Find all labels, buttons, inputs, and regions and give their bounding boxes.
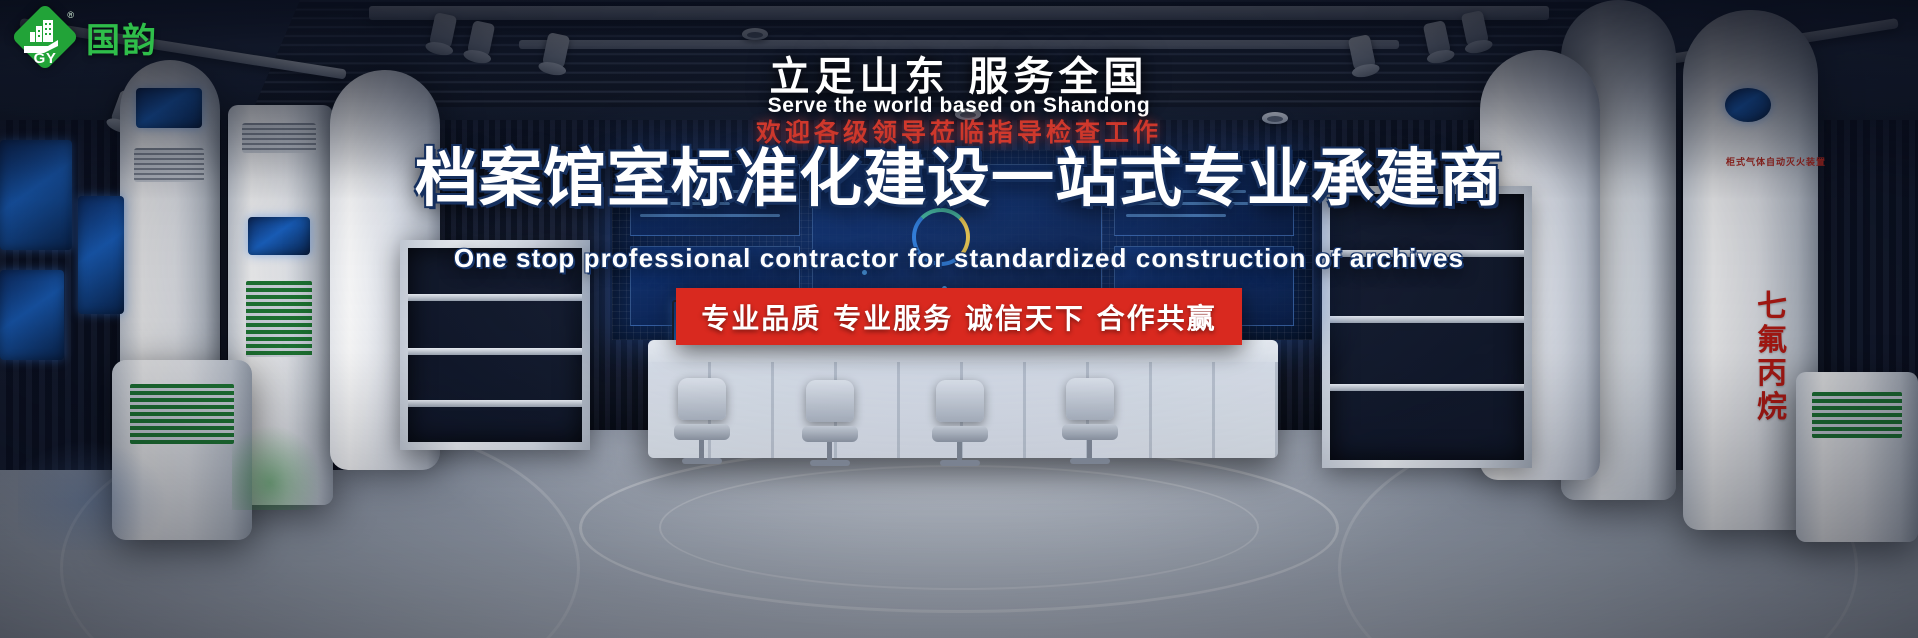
- hero-headline-en: One stop professional contractor for sta…: [0, 243, 1918, 274]
- hero-banner: 柜式气体自动灭火装置 七氟丙烷 ®: [0, 0, 1918, 638]
- brand-name: 国韵: [86, 13, 158, 62]
- registered-trademark-icon: ®: [67, 10, 74, 20]
- gy-building-diamond-logo-icon: ® GY: [14, 6, 76, 68]
- hero-cta-banner[interactable]: 专业品质 专业服务 诚信天下 合作共赢: [676, 288, 1242, 345]
- brand-logo[interactable]: ® GY 国韵: [14, 6, 158, 68]
- logo-monogram: GY: [14, 50, 76, 67]
- hero-headline-cn: 档案馆室标准化建设一站式专业承建商: [0, 128, 1918, 219]
- hero-cta-text: 专业品质 专业服务 诚信天下 合作共赢: [701, 297, 1216, 337]
- hero-text-overlay: 立足山东 服务全国 Serve the world based on Shand…: [0, 0, 1918, 638]
